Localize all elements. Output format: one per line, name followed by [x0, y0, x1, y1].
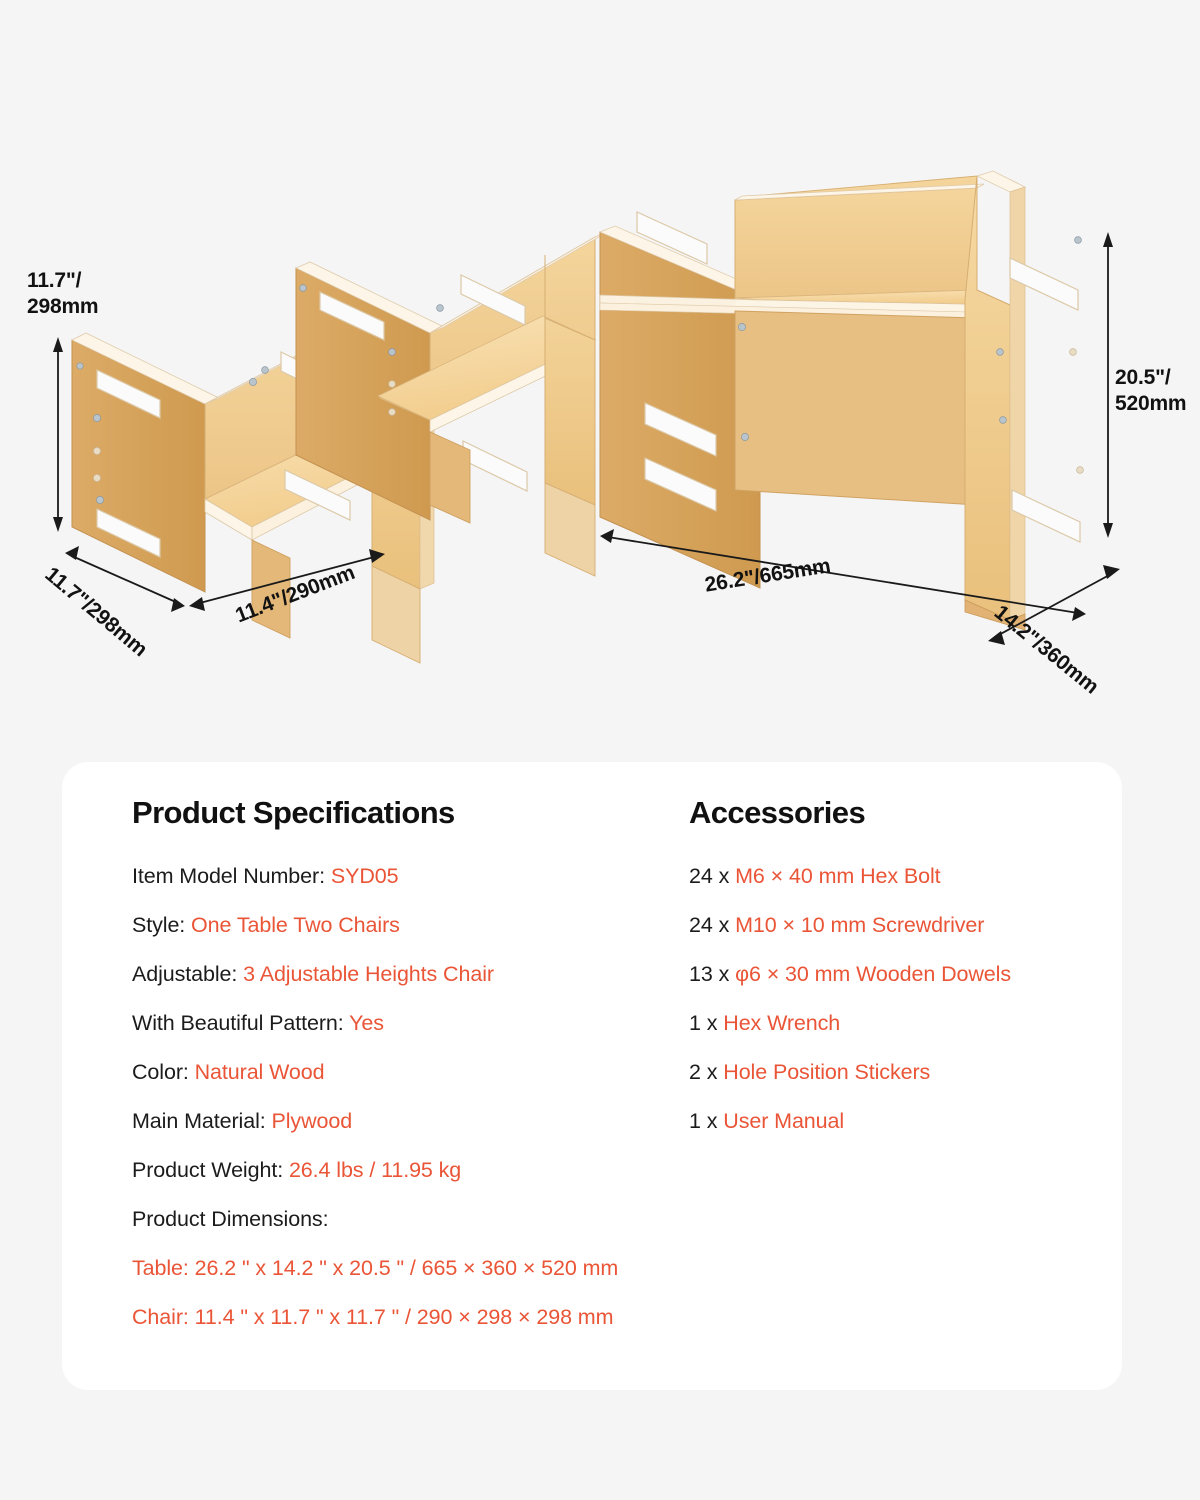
dimension-detail-table: Table: 26.2 " x 14.2 " x 20.5 " / 665 × … — [132, 1244, 692, 1293]
accessory-qty: 24 x — [689, 864, 735, 888]
chair-back — [296, 231, 609, 576]
accessory-row: 24 x M6 × 40 mm Hex Bolt — [689, 852, 1109, 901]
spec-label: With Beautiful Pattern: — [132, 1011, 349, 1035]
spec-value: Yes — [349, 1011, 384, 1035]
specifications-column: Product Specifications Item Model Number… — [132, 794, 692, 1342]
spec-row: Style: One Table Two Chairs — [132, 901, 692, 950]
spec-label: Product Weight: — [132, 1158, 289, 1182]
dimension-label-chair-height: 11.7"/ 298mm — [27, 268, 98, 320]
accessory-qty: 2 x — [689, 1060, 723, 1084]
accessory-item: φ6 × 30 mm Wooden Dowels — [735, 962, 1011, 986]
spec-label: Adjustable: — [132, 962, 243, 986]
accessory-qty: 24 x — [689, 913, 735, 937]
spec-row: Color: Natural Wood — [132, 1048, 692, 1097]
spec-row: Item Model Number: SYD05 — [132, 852, 692, 901]
accessory-qty: 1 x — [689, 1109, 723, 1133]
spec-row: Main Material: Plywood — [132, 1097, 692, 1146]
dimension-label-table-height: 20.5"/ 520mm — [1115, 365, 1186, 417]
accessory-qty: 13 x — [689, 962, 735, 986]
accessory-row: 13 x φ6 × 30 mm Wooden Dowels — [689, 950, 1109, 999]
accessory-item: Hole Position Stickers — [723, 1060, 930, 1084]
spec-value: 26.4 lbs / 11.95 kg — [289, 1158, 461, 1182]
accessory-row: 1 x User Manual — [689, 1097, 1109, 1146]
accessory-row: 2 x Hole Position Stickers — [689, 1048, 1109, 1097]
spec-row: Product Weight: 26.4 lbs / 11.95 kg — [132, 1146, 692, 1195]
accessory-item: User Manual — [723, 1109, 844, 1133]
accessories-column: Accessories 24 x M6 × 40 mm Hex Bolt 24 … — [689, 794, 1109, 1146]
spec-value: 3 Adjustable Heights Chair — [243, 962, 494, 986]
product-info-card: Product Specifications Item Model Number… — [62, 762, 1122, 1390]
accessory-item: Hex Wrench — [723, 1011, 840, 1035]
spec-row: With Beautiful Pattern: Yes — [132, 999, 692, 1048]
accessory-qty: 1 x — [689, 1011, 723, 1035]
spec-label: Item Model Number: — [132, 864, 331, 888]
spec-label: Main Material: — [132, 1109, 272, 1133]
dimension-detail-chair: Chair: 11.4 " x 11.7 " x 11.7 " / 290 × … — [132, 1293, 692, 1342]
spec-label: Style: — [132, 913, 191, 937]
spec-row: Adjustable: 3 Adjustable Heights Chair — [132, 950, 692, 999]
spec-value: One Table Two Chairs — [191, 913, 400, 937]
table — [600, 171, 1083, 630]
accessory-item: M6 × 40 mm Hex Bolt — [735, 864, 940, 888]
spec-value: Natural Wood — [195, 1060, 325, 1084]
spec-value: SYD05 — [331, 864, 399, 888]
accessory-item: M10 × 10 mm Screwdriver — [735, 913, 984, 937]
specifications-title: Product Specifications — [132, 794, 692, 832]
accessory-row: 1 x Hex Wrench — [689, 999, 1109, 1048]
spec-value: Plywood — [272, 1109, 353, 1133]
spec-label: Product Dimensions: — [132, 1207, 328, 1231]
accessory-row: 24 x M10 × 10 mm Screwdriver — [689, 901, 1109, 950]
spec-label: Color: — [132, 1060, 195, 1084]
product-illustration: 11.7"/ 298mm 11.7"/298mm 11.4"/290mm 20.… — [0, 0, 1200, 740]
spec-row: Product Dimensions: — [132, 1195, 692, 1244]
accessories-title: Accessories — [689, 794, 1109, 832]
